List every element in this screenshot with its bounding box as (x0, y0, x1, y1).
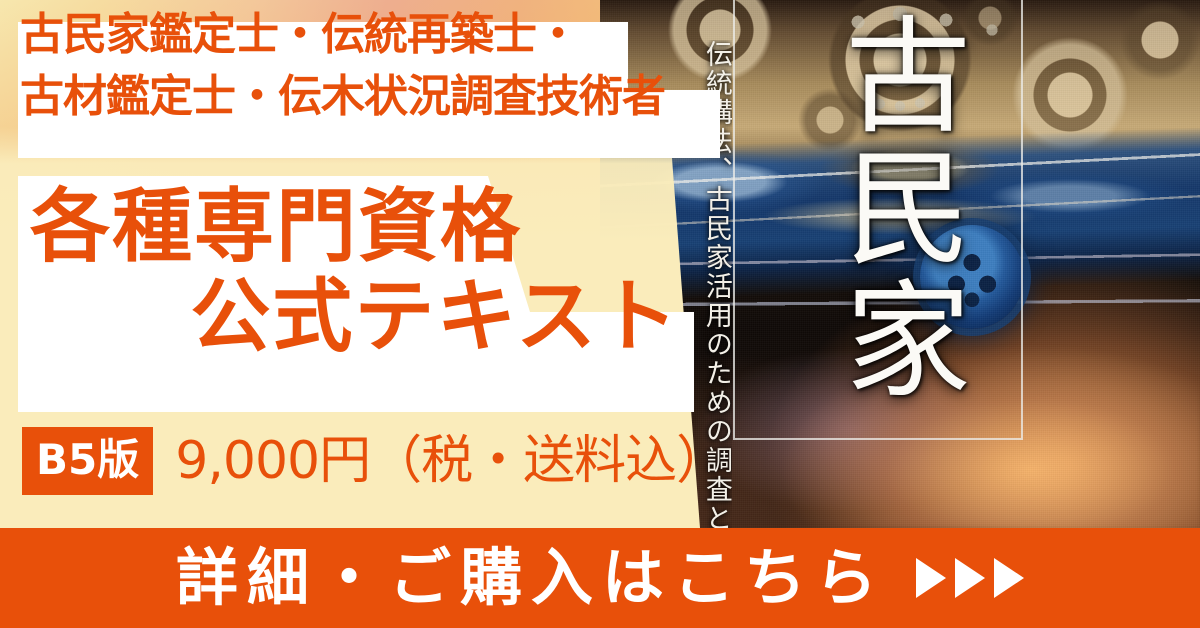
qualifications-line-1: 古民家鑑定士・伝統再築士・ (20, 4, 710, 66)
headline-line-2: 公式テキスト (0, 272, 694, 362)
book-cover-title: 古民家 (782, 10, 962, 406)
price-row: B5版 9,000円（税・送料込） (22, 428, 727, 494)
play-arrow-icon (916, 558, 946, 598)
play-arrow-icon (994, 558, 1024, 598)
headline-line-1: 各種専門資格 (0, 182, 694, 272)
cta-arrows (916, 558, 1024, 598)
cta-label: 詳細・ご購入はこちら (176, 547, 886, 609)
promo-banner: 伝統構法、古民家活用のための調査と再生の 古民家 古民家鑑定士・伝統再築士・ 古… (0, 0, 1200, 628)
cta-bar[interactable]: 詳細・ご購入はこちら (0, 528, 1200, 628)
play-arrow-icon (955, 558, 985, 598)
headline-text: 各種専門資格 公式テキスト (0, 182, 694, 361)
price-amount: 9,000円（税・送料込） (175, 435, 727, 487)
size-badge: B5版 (22, 427, 153, 495)
qualifications-line-2: 古材鑑定士・伝木状況調査技術者 (20, 66, 710, 128)
qualifications-text: 古民家鑑定士・伝統再築士・ 古材鑑定士・伝木状況調査技術者 (20, 4, 710, 129)
